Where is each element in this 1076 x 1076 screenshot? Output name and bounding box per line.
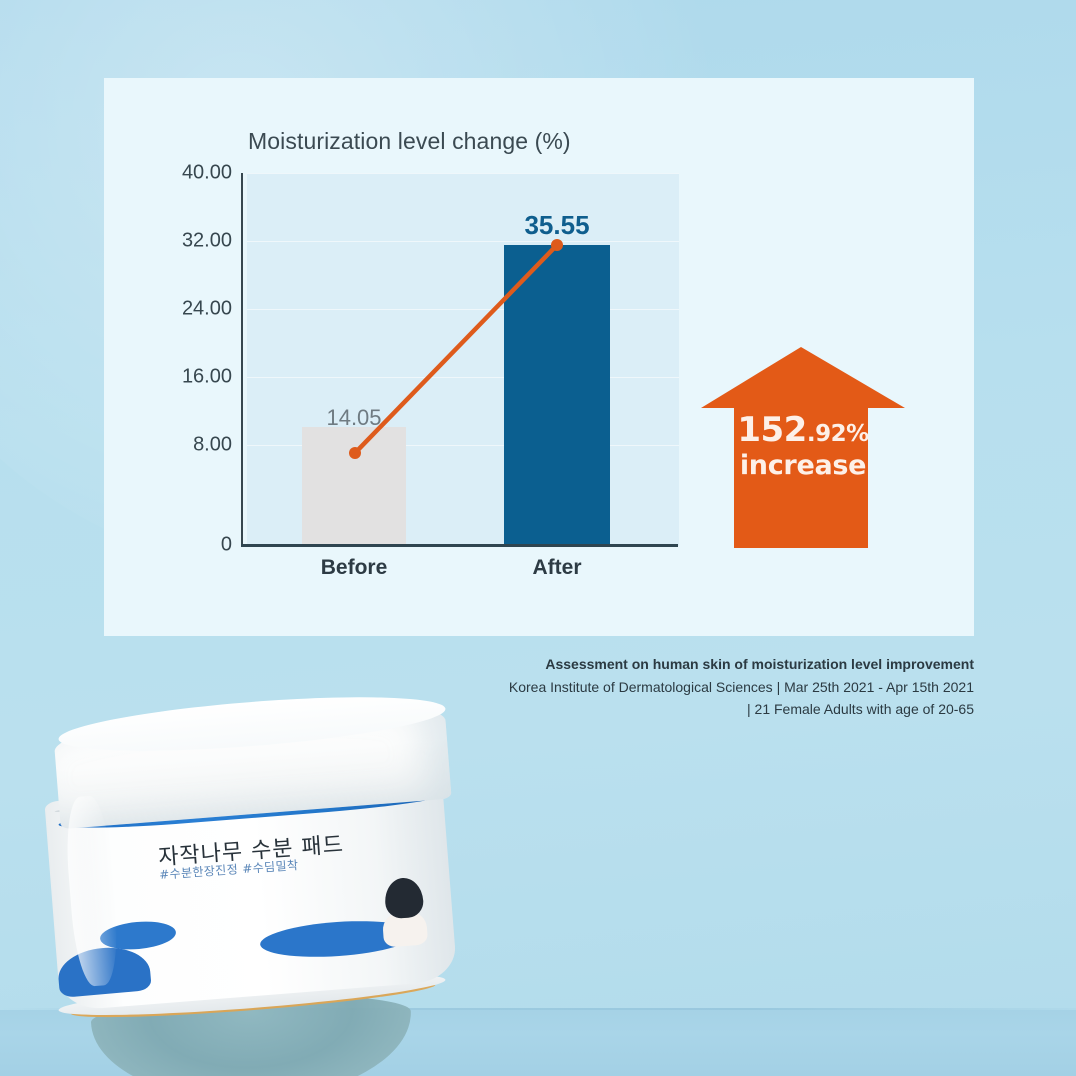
bar-before[interactable] [302, 427, 406, 546]
footnote-line-1: Assessment on human skin of moisturizati… [420, 654, 974, 676]
y-axis-tick-labels: 40.00 32.00 24.00 16.00 8.00 0 [104, 78, 232, 636]
increase-percent-main: 152 [737, 410, 806, 450]
footnote-block: Assessment on human skin of moisturizati… [420, 654, 974, 720]
x-label-before: Before [321, 556, 388, 580]
y-tick-40: 40.00 [112, 162, 232, 185]
poster-canvas: Moisturization level change (%) 40.00 32… [0, 0, 1076, 1076]
increase-percent: 152.92% [696, 412, 910, 449]
footnote-line-2: Korea Institute of Dermatological Scienc… [420, 676, 974, 698]
gridline-40 [247, 173, 679, 174]
bar-value-after: 35.55 [524, 210, 589, 241]
x-label-after: After [532, 556, 581, 580]
bar-after[interactable] [504, 245, 610, 546]
y-tick-0: 0 [112, 534, 232, 557]
increase-caption: increase [696, 451, 910, 480]
increase-arrow-label: 152.92% increase [696, 412, 910, 480]
y-tick-24: 24.00 [112, 298, 232, 321]
gridline-24 [247, 309, 679, 310]
plot-area [247, 173, 679, 546]
product-jar-image: 자작나무 수분 패드 #수분한장진정 #수딤밀착 [40, 700, 470, 1040]
gridline-32 [247, 241, 679, 242]
gridline-16 [247, 377, 679, 378]
chart-title: Moisturization level change (%) [248, 128, 571, 155]
y-tick-32: 32.00 [112, 230, 232, 253]
footnote-line-3: | 21 Female Adults with age of 20-65 [420, 698, 974, 720]
y-axis-line [241, 173, 243, 546]
y-tick-8: 8.00 [112, 434, 232, 457]
x-axis-line [241, 544, 678, 547]
increase-percent-fraction: .92% [807, 421, 869, 447]
bar-value-before: 14.05 [326, 405, 381, 431]
y-tick-16: 16.00 [112, 366, 232, 389]
